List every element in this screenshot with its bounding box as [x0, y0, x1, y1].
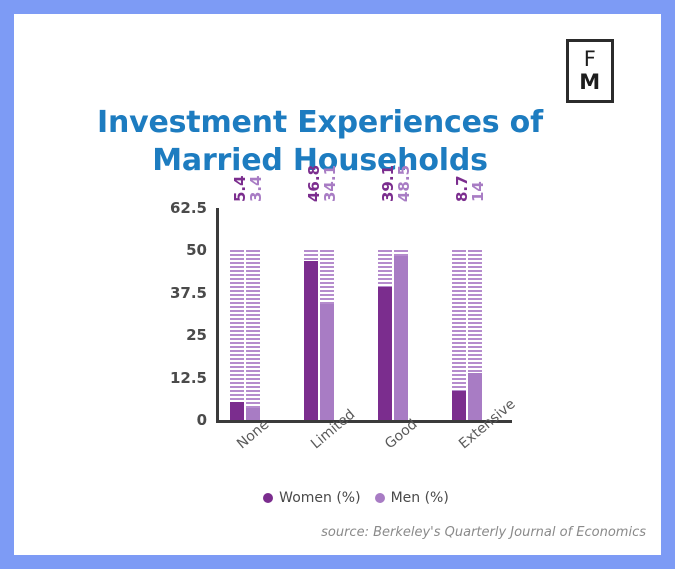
y-axis-tick-label: 12.5: [170, 369, 216, 387]
bar-men[interactable]: 3.4: [246, 208, 260, 420]
bar-group: 46.834.1: [304, 208, 334, 420]
bar-men[interactable]: 48.5: [394, 208, 408, 420]
legend-label: Men (%): [391, 490, 449, 506]
bar-hatched-overlay: [230, 250, 244, 401]
bar-fill-men: [394, 256, 408, 421]
bar-value-label: 48.5: [395, 165, 413, 202]
y-axis-tick-label: 0: [197, 411, 216, 429]
bar-women[interactable]: 39.1: [378, 208, 392, 420]
fm-logo: F M: [566, 39, 614, 103]
bar-value-label: 34.1: [321, 165, 339, 202]
bar-hatched-overlay: [452, 250, 466, 390]
bar-fill-women: [304, 261, 318, 420]
plot-area: 012.52537.55062.55.43.4None46.834.1Limit…: [216, 208, 512, 420]
bar-group: 39.148.5: [378, 208, 408, 420]
y-axis-tick-label: 37.5: [170, 284, 216, 302]
bar-men[interactable]: 34.1: [320, 208, 334, 420]
bar-value-label: 3.4: [247, 175, 265, 202]
bar-women[interactable]: 8.7: [452, 208, 466, 420]
bar-chart: 012.52537.55062.55.43.4None46.834.1Limit…: [186, 200, 526, 500]
bar-fill-women: [378, 287, 392, 420]
y-axis-tick-label: 50: [186, 241, 216, 259]
logo-letter-f: F: [584, 49, 597, 70]
bar-group: 8.714: [452, 208, 482, 420]
y-axis-tick-label: 62.5: [170, 199, 216, 217]
infographic-page: F M Investment Experiences of Married Ho…: [0, 0, 675, 569]
legend-item[interactable]: Women (%): [263, 490, 360, 506]
bar-hatched-overlay: [246, 250, 260, 408]
legend-label: Women (%): [279, 490, 360, 506]
page-title-line-1: Investment Experiences of: [60, 104, 580, 142]
source-note: source: Berkeley's Quarterly Journal of …: [321, 525, 646, 540]
bar-fill-women: [230, 402, 244, 420]
bar-hatched-overlay: [378, 250, 392, 287]
bar-fill-men: [468, 373, 482, 420]
legend-color-dot-icon: [263, 493, 273, 503]
bar-fill-men: [320, 304, 334, 420]
bar-hatched-overlay: [320, 250, 334, 304]
bar-women[interactable]: 46.8: [304, 208, 318, 420]
y-axis-tick-label: 25: [186, 326, 216, 344]
bar-fill-women: [452, 391, 466, 421]
bar-men[interactable]: 14: [468, 208, 482, 420]
chart-legend: Women (%)Men (%): [186, 490, 526, 506]
legend-item[interactable]: Men (%): [375, 490, 449, 506]
legend-color-dot-icon: [375, 493, 385, 503]
bar-value-label: 14: [469, 181, 487, 202]
bar-hatched-overlay: [304, 250, 318, 261]
bar-group: 5.43.4: [230, 208, 260, 420]
bar-hatched-overlay: [468, 250, 482, 372]
bar-women[interactable]: 5.4: [230, 208, 244, 420]
logo-letter-m: M: [579, 72, 600, 93]
